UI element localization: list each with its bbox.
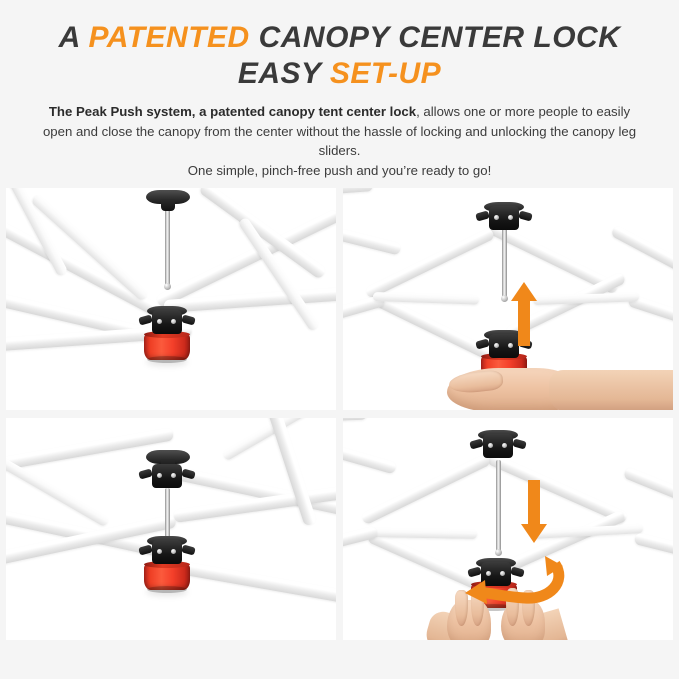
frame-tube xyxy=(623,466,673,507)
peak-lock-hub xyxy=(483,202,525,236)
canopy-scene-tr xyxy=(343,188,673,410)
frame-tube xyxy=(343,438,397,474)
push-rod-tip xyxy=(501,295,508,302)
canopy-scene-tl xyxy=(6,188,336,410)
upper-lock-hub xyxy=(146,460,188,494)
panel-grid xyxy=(0,180,679,679)
description-closing: One simple, pinch-free push and you’re r… xyxy=(188,163,492,178)
panel-bottom-left xyxy=(6,418,336,640)
panel-bottom-right xyxy=(343,418,673,640)
push-rod xyxy=(502,226,507,298)
headline-line-2: EASY SET-UP xyxy=(34,56,645,91)
headline-accent-patented: PATENTED xyxy=(89,21,250,54)
description-bold-lead: The Peak Push system, a patented canopy … xyxy=(49,104,416,119)
center-lock-hub xyxy=(146,306,188,340)
header-section: A PATENTED CANOPY CENTER LOCK EASY SET-U… xyxy=(0,0,679,180)
headline-part-1: A xyxy=(59,21,89,54)
canopy-scene-br xyxy=(343,418,673,640)
photo-plate-tl xyxy=(6,188,336,410)
frame-tube xyxy=(343,188,373,196)
panel-top-right xyxy=(343,188,673,410)
center-lock-hub xyxy=(146,536,188,570)
frame-tube xyxy=(610,225,673,281)
frame-tube xyxy=(268,418,317,527)
frame-tube xyxy=(634,532,673,563)
panel-top-left xyxy=(6,188,336,410)
frame-tube xyxy=(533,292,639,305)
push-rod xyxy=(165,488,170,542)
photo-plate-br xyxy=(343,418,673,640)
headline-part-2: CANOPY CENTER LOCK xyxy=(250,21,621,54)
photo-plate-bl xyxy=(6,418,336,640)
push-rod xyxy=(496,460,501,552)
headline-easy: EASY xyxy=(238,57,330,90)
description-paragraph: The Peak Push system, a patented canopy … xyxy=(34,102,645,180)
headline-line-1: A PATENTED CANOPY CENTER LOCK xyxy=(34,20,645,55)
headline-accent-setup: SET-UP xyxy=(330,57,441,90)
frame-tube xyxy=(343,222,402,255)
infographic-page: A PATENTED CANOPY CENTER LOCK EASY SET-U… xyxy=(0,0,679,679)
frame-tube xyxy=(364,227,495,299)
frame-tube xyxy=(173,560,336,608)
frame-tube xyxy=(343,418,367,422)
frame-tube xyxy=(365,528,477,539)
push-rod-tip xyxy=(164,283,171,290)
push-rod xyxy=(165,208,170,286)
photo-plate-tr xyxy=(343,188,673,410)
arrow-rotate-icon xyxy=(463,554,573,610)
peak-lock-hub xyxy=(477,430,525,468)
canopy-scene-bl xyxy=(6,418,336,640)
